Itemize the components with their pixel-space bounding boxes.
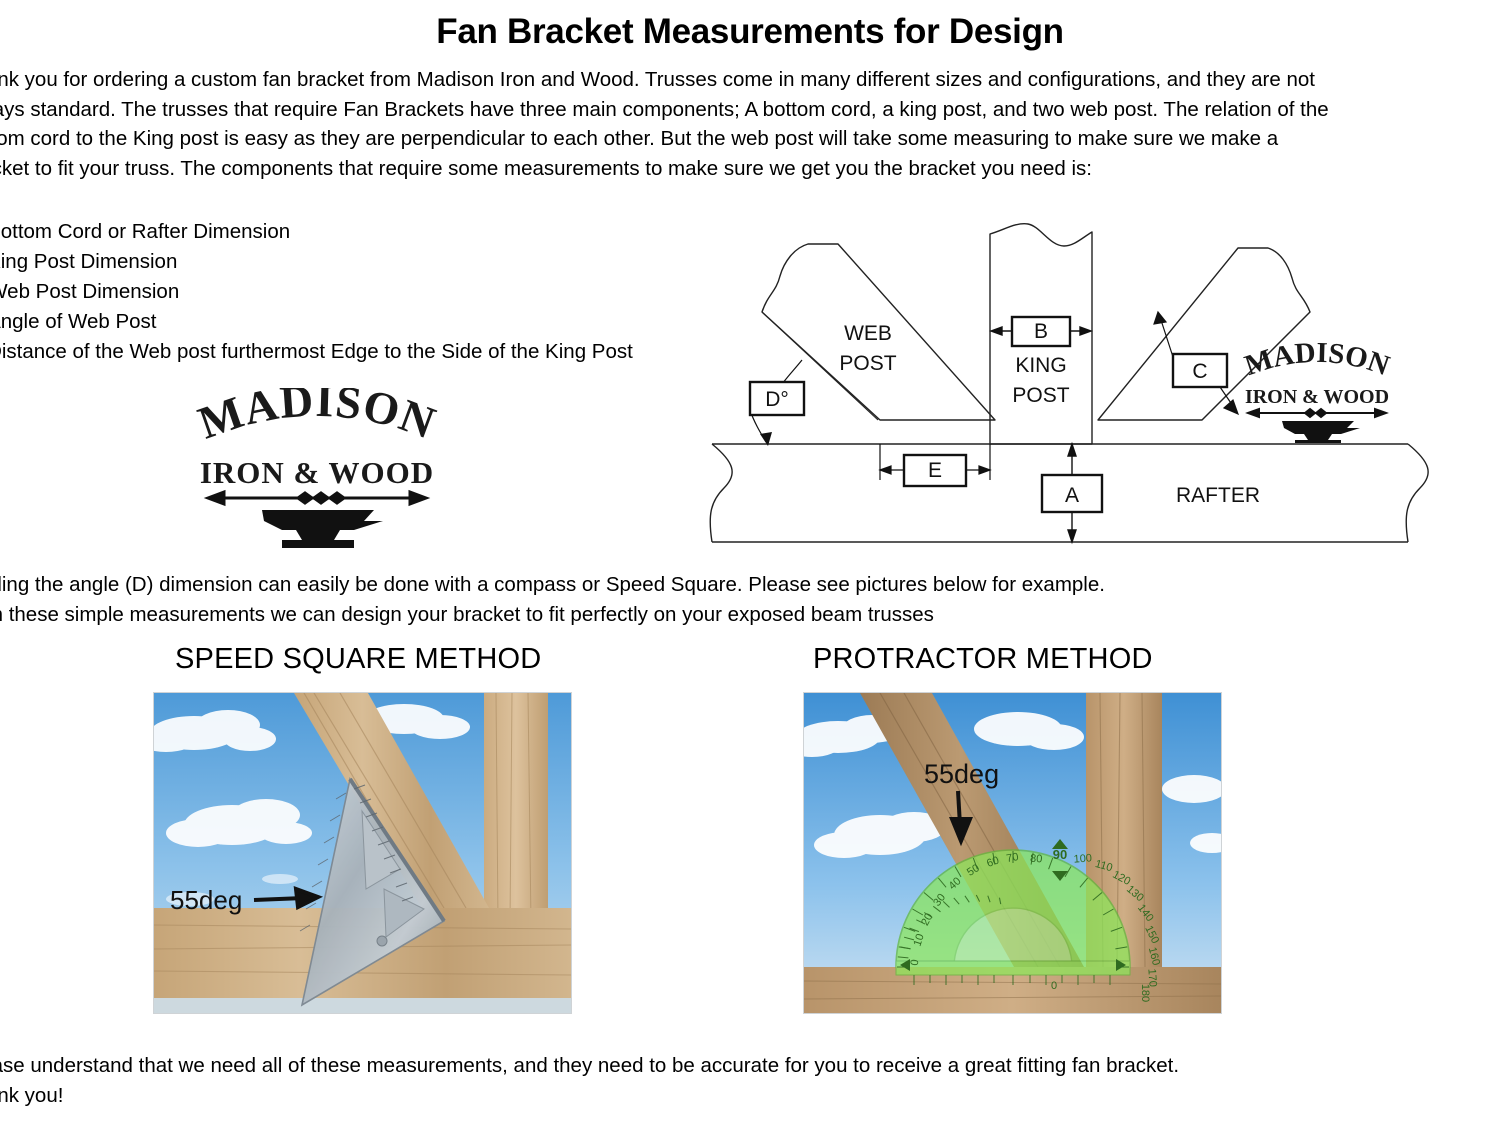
svg-text:180: 180	[1139, 984, 1151, 1002]
protractor-photo: 0 10 20 30 40 50 60 70 80 90 100 110 120…	[803, 692, 1222, 1014]
intro-line: bracket to fit your truss. The component…	[0, 154, 1492, 184]
svg-text:MADISON: MADISON	[1241, 343, 1394, 382]
list-item: D. Angle of Web Post	[0, 307, 633, 337]
diagram-dimension-a: A	[1065, 484, 1079, 507]
heading-speed-square-method: SPEED SQUARE METHOD	[175, 643, 541, 676]
svg-text:100: 100	[1073, 852, 1092, 865]
heading-protractor-method: PROTRACTOR METHOD	[813, 643, 1153, 676]
diagram-dimension-b: B	[1034, 320, 1048, 343]
measurement-list: A. Bottom Cord or Rafter Dimension B. Ki…	[0, 217, 633, 367]
intro-line: Thank you for ordering a custom fan brac…	[0, 65, 1492, 95]
svg-text:80: 80	[1030, 853, 1043, 866]
mid-paragraph: Finding the angle (D) dimension can easi…	[0, 570, 1492, 629]
list-item: C. Web Post Dimension	[0, 277, 633, 307]
svg-text:IRON & WOOD: IRON & WOOD	[1245, 386, 1389, 408]
svg-text:90: 90	[1053, 847, 1067, 862]
intro-paragraph: Thank you for ordering a custom fan brac…	[0, 65, 1492, 183]
svg-text:0: 0	[1051, 980, 1057, 992]
page-title: Fan Bracket Measurements for Design	[0, 12, 1500, 52]
diagram-label-rafter: RAFTER	[1176, 484, 1260, 507]
intro-line: bottom cord to the King post is easy as …	[0, 124, 1492, 154]
closing-line: Thank you!	[0, 1081, 1492, 1111]
diagram-dimension-c: C	[1192, 360, 1207, 383]
closing-line: Please understand that we need all of th…	[0, 1051, 1492, 1081]
madison-logo-right: MADISON IRON & WOOD	[1228, 343, 1406, 443]
diagram-label-web-post: POST	[839, 352, 896, 375]
mid-line: Finding the angle (D) dimension can easi…	[0, 570, 1492, 600]
document-page: Fan Bracket Measurements for Design Than…	[0, 0, 1500, 1127]
svg-text:MADISON: MADISON	[192, 388, 443, 449]
speed-square-photo: 55deg	[153, 692, 572, 1014]
intro-line: always standard. The trusses that requir…	[0, 95, 1492, 125]
diagram-dimension-e: E	[928, 459, 942, 482]
list-item: A. Bottom Cord or Rafter Dimension	[0, 217, 633, 247]
annotation-label-55deg: 55deg	[924, 759, 999, 789]
diagram-dimension-d: D°	[765, 388, 789, 411]
list-item: E. Distance of the Web post furthermost …	[0, 337, 633, 367]
madison-logo-left: MADISON IRON & WOOD	[178, 388, 456, 548]
diagram-label-king-post: POST	[1012, 384, 1069, 407]
list-item: B. King Post Dimension	[0, 247, 633, 277]
svg-text:70: 70	[1005, 851, 1019, 865]
svg-text:IRON & WOOD: IRON & WOOD	[200, 455, 434, 490]
closing-paragraph: Please understand that we need all of th…	[0, 1051, 1492, 1110]
mid-line: With these simple measurements we can de…	[0, 600, 1492, 630]
diagram-label-web-post: WEB	[844, 322, 892, 345]
annotation-label-55deg: 55deg	[170, 885, 242, 915]
diagram-label-king-post: KING	[1015, 354, 1066, 377]
